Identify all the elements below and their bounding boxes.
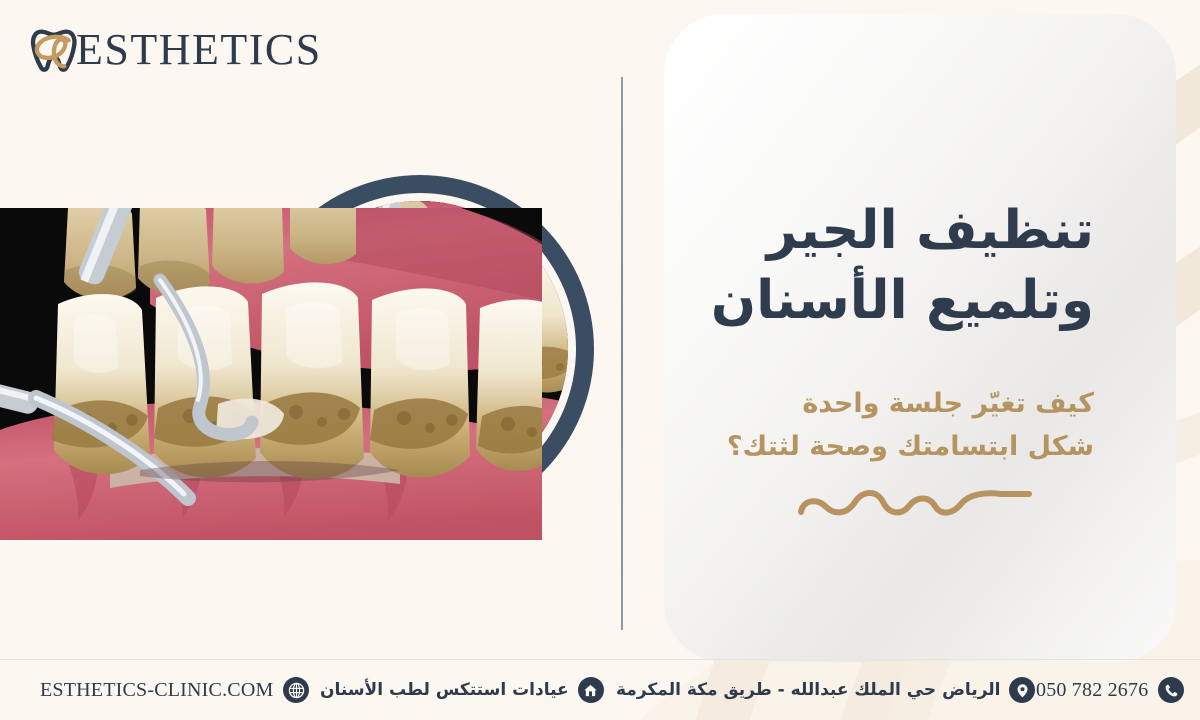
footer-website-text: ESTHETICS-CLINIC.COM [40, 679, 273, 702]
location-pin-icon [1009, 677, 1035, 703]
brand-wordmark: ESTHETICS [76, 28, 322, 72]
home-icon [578, 677, 604, 703]
dental-photo-rect [0, 208, 542, 540]
poster-root: ESTHETICS [0, 0, 1200, 720]
brand-logo: ESTHETICS [24, 18, 322, 80]
headline-line-1: تنظيف الجير [674, 196, 1094, 266]
footer-website[interactable]: ESTHETICS-CLINIC.COM [40, 660, 309, 720]
footer-address: الرياض حي الملك عبدالله - طريق مكة المكر… [616, 660, 1035, 720]
subheadline-line-1: كيف تغيّر جلسة واحدة [674, 383, 1094, 426]
dental-visual [0, 168, 612, 588]
footer-clinic-name: عيادات استتكس لطب الأسنان [320, 660, 604, 720]
wavy-underline-flourish [795, 478, 1035, 524]
content-panel [664, 14, 1176, 662]
globe-icon [283, 677, 309, 703]
headline: تنظيف الجير وتلميع الأسنان [674, 196, 1094, 336]
footer-address-text: الرياض حي الملك عبدالله - طريق مكة المكر… [616, 680, 1000, 700]
footer-clinic-name-text: عيادات استتكس لطب الأسنان [320, 680, 569, 700]
vertical-divider [621, 77, 623, 630]
headline-line-2: وتلميع الأسنان [674, 266, 1094, 336]
phone-icon [1158, 677, 1184, 703]
footer-bar: ESTHETICS-CLINIC.COM عيادات استتكس لطب ا… [0, 660, 1200, 720]
footer-phone[interactable]: 050 782 2676 [1036, 660, 1184, 720]
subheadline-line-2: شكل ابتسامتك وصحة لثتك؟ [674, 426, 1094, 469]
footer-phone-text: 050 782 2676 [1036, 679, 1148, 702]
subheadline: كيف تغيّر جلسة واحدة شكل ابتسامتك وصحة ل… [674, 383, 1094, 468]
